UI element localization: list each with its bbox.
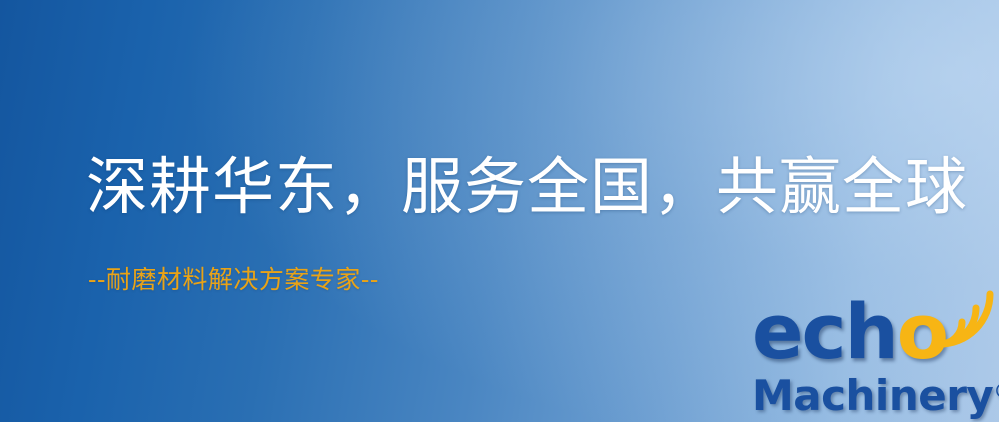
logo-secondary-text: Machinery® bbox=[752, 368, 999, 419]
hero-banner: 深耕华东，服务全国，共赢全球 --耐磨材料解决方案专家-- echo Machi… bbox=[0, 0, 999, 422]
logo-secondary-label: Machinery bbox=[752, 371, 993, 420]
echo-signal-waves-icon bbox=[932, 288, 996, 350]
logo-wordmark: echo bbox=[750, 292, 999, 374]
banner-headline: 深耕华东，服务全国，共赢全球 bbox=[86, 152, 968, 221]
logo-brand-text: echo bbox=[752, 294, 947, 370]
banner-subtitle: --耐磨材料解决方案专家-- bbox=[88, 264, 379, 295]
logo-trademark-symbol: ® bbox=[993, 379, 999, 403]
logo-brand-primary: ech bbox=[752, 287, 897, 376]
echo-machinery-logo[interactable]: echo Machinery® bbox=[750, 292, 999, 422]
